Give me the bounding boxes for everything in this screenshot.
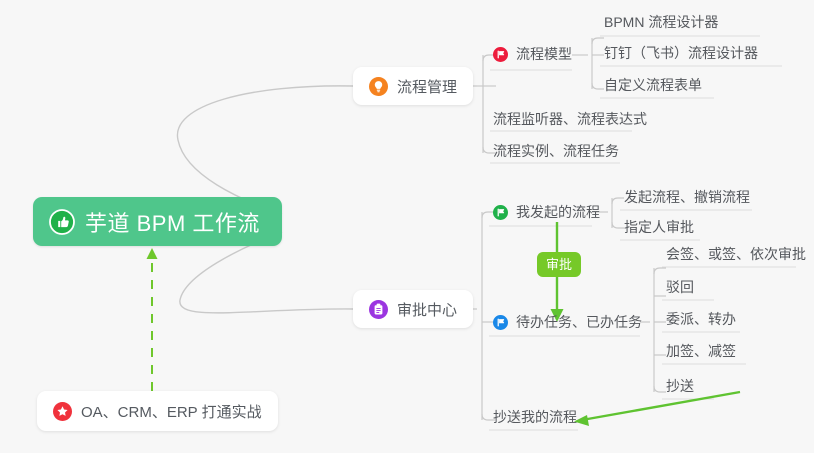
root-node[interactable]: 芋道 BPM 工作流: [33, 197, 282, 246]
approve-badge-label: 审批: [546, 257, 572, 272]
leaf-label-reject: 驳回: [666, 279, 694, 295]
leaf-add-remove-sign[interactable]: 加签、减签: [666, 342, 736, 365]
branch-node-process-management[interactable]: 流程管理: [353, 67, 473, 105]
leaf-start-cancel-process[interactable]: 发起流程、撤销流程: [624, 188, 750, 211]
leaf-label-process-listener: 流程监听器、流程表达式: [493, 111, 647, 127]
leaf-label-my-initiated: 我发起的流程: [516, 203, 600, 221]
leaf-assignee-approval[interactable]: 指定人审批: [624, 218, 694, 241]
leaf-custom-form[interactable]: 自定义流程表单: [604, 76, 702, 99]
leaf-label-add-remove-sign: 加签、减签: [666, 343, 736, 359]
leaf-label-delegate-transfer: 委派、转办: [666, 311, 736, 327]
blue-flag-icon: [493, 315, 508, 330]
leaf-my-initiated[interactable]: 我发起的流程: [493, 203, 600, 226]
leaf-label-dingtalk-designer: 钉钉（飞书）流程设计器: [604, 45, 758, 61]
lightbulb-icon: [369, 77, 388, 96]
leaf-process-listener[interactable]: 流程监听器、流程表达式: [493, 110, 647, 133]
leaf-label-todo-done-tasks: 待办任务、已办任务: [516, 313, 642, 331]
approve-badge[interactable]: 审批: [537, 252, 581, 277]
leaf-countersign[interactable]: 会签、或签、依次审批: [666, 245, 806, 268]
leaf-process-instance[interactable]: 流程实例、流程任务: [493, 142, 619, 165]
leaf-label-start-cancel-process: 发起流程、撤销流程: [624, 189, 750, 205]
leaf-label-process-instance: 流程实例、流程任务: [493, 143, 619, 159]
leaf-label-assignee-approval: 指定人审批: [624, 219, 694, 235]
leaf-cc[interactable]: 抄送: [666, 377, 694, 400]
branch-label-process-management: 流程管理: [397, 76, 457, 97]
integration-node-label: OA、CRM、ERP 打通实战: [81, 401, 262, 422]
leaf-label-countersign: 会签、或签、依次审批: [666, 246, 806, 262]
leaf-label-custom-form: 自定义流程表单: [604, 77, 702, 93]
leaf-process-model[interactable]: 流程模型: [493, 45, 572, 68]
green-flag-icon: [493, 205, 508, 220]
leaf-delegate-transfer[interactable]: 委派、转办: [666, 310, 736, 333]
red-star-icon: [53, 402, 72, 421]
leaf-label-cc: 抄送: [666, 378, 694, 394]
red-flag-icon: [493, 47, 508, 62]
branch-label-approval-center: 审批中心: [397, 299, 457, 320]
leaf-bpmn-designer[interactable]: BPMN 流程设计器: [604, 13, 718, 36]
clipboard-icon: [369, 300, 388, 319]
leaf-label-cc-to-me: 抄送我的流程: [493, 409, 577, 425]
leaf-dingtalk-designer[interactable]: 钉钉（飞书）流程设计器: [604, 44, 758, 67]
leaf-cc-to-me[interactable]: 抄送我的流程: [493, 408, 577, 431]
leaf-label-bpmn-designer: BPMN 流程设计器: [604, 14, 718, 30]
leaf-reject[interactable]: 驳回: [666, 278, 694, 301]
thumbs-up-icon: [49, 209, 75, 235]
leaf-todo-done-tasks[interactable]: 待办任务、已办任务: [493, 313, 642, 336]
branch-node-approval-center[interactable]: 审批中心: [353, 290, 473, 328]
mindmap-canvas: 芋道 BPM 工作流 流程管理 审批中心: [0, 0, 814, 453]
leaf-label-process-model: 流程模型: [516, 45, 572, 63]
integration-node[interactable]: OA、CRM、ERP 打通实战: [37, 391, 278, 431]
root-node-label: 芋道 BPM 工作流: [85, 206, 260, 238]
